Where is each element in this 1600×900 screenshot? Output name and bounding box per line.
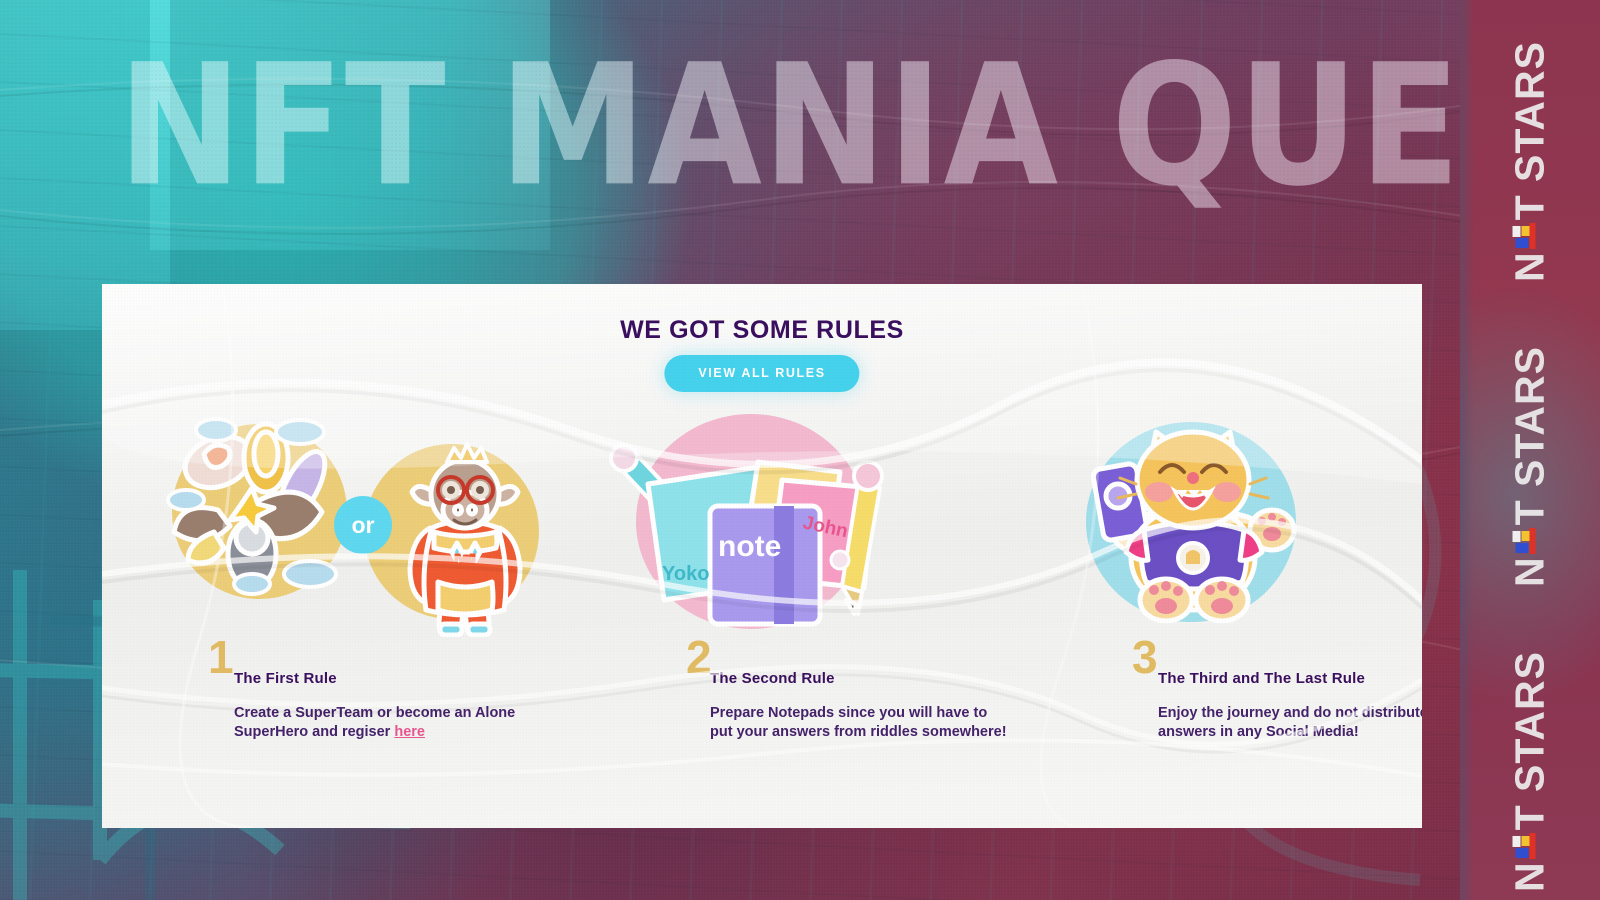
sidebar-brand-suffix-2: T STARS [1507, 346, 1554, 525]
rule-1-number: 1 [208, 634, 234, 680]
note-label-yoko: Yoko [662, 563, 709, 585]
rule-2-number: 2 [686, 634, 712, 680]
rule-2-body: Prepare Notepads since you will have to … [710, 704, 1010, 742]
rule-1-heading: The First Rule [234, 670, 337, 687]
or-badge: or [334, 496, 392, 554]
rule-2-illustration: note Yoko John [626, 414, 1046, 634]
rule-3-number: 3 [1132, 634, 1158, 680]
poster-canvas: NFT MANIA QUEST RULES NFT MANIA QUEST RU… [0, 0, 1600, 900]
sidebar-brand-1: N T STARS [1507, 41, 1554, 282]
hero-chest-letter: M [453, 548, 478, 581]
nft-stars-logo-icon-3 [1512, 833, 1548, 859]
sidebar-brand-2: N T STARS [1507, 346, 1554, 587]
sidebar-brand-suffix-1: T STARS [1507, 41, 1554, 220]
rule-2-heading: The Second Rule [710, 670, 835, 687]
notepads-sticker: note Yoko John [606, 428, 896, 628]
sidebar-brand-suffix-3: T STARS [1507, 651, 1554, 830]
brand-sidebar: N T STARS N T STARS N T STARS [1460, 0, 1600, 900]
sidebar-brand-3: N T STARS [1507, 651, 1554, 892]
rule-3-heading: The Third and The Last Rule [1158, 670, 1365, 687]
nft-stars-logo-icon-2 [1512, 528, 1548, 554]
rule-1-illustration: or [154, 414, 574, 634]
sidebar-brand-prefix-2: N [1507, 557, 1554, 587]
rule-3-illustration [1076, 414, 1422, 634]
happy-cat-sticker [1086, 418, 1301, 623]
rule-3-body: Enjoy the journey and do not distribute … [1158, 704, 1422, 742]
sidebar-brand-prefix-3: N [1507, 862, 1554, 892]
rule-1-register-link[interactable]: here [394, 724, 425, 740]
rules-card: WE GOT SOME RULES VIEW ALL RULES [102, 284, 1422, 828]
superteam-sticker [160, 414, 360, 604]
rule-1-body-text: Create a SuperTeam or become an Alone Su… [234, 705, 515, 740]
rules-list: or [102, 284, 1422, 828]
sidebar-edge-shadow [1460, 0, 1474, 900]
sidebar-brand-prefix-1: N [1507, 252, 1554, 282]
poster-headline: NFT MANIA QUEST RULES [118, 36, 1449, 227]
bull-superhero-sticker: M [390, 432, 540, 637]
nft-stars-logo-icon-1 [1512, 223, 1548, 249]
notebook-label: note [718, 530, 781, 563]
rule-1-body: Create a SuperTeam or become an Alone Su… [234, 704, 544, 742]
